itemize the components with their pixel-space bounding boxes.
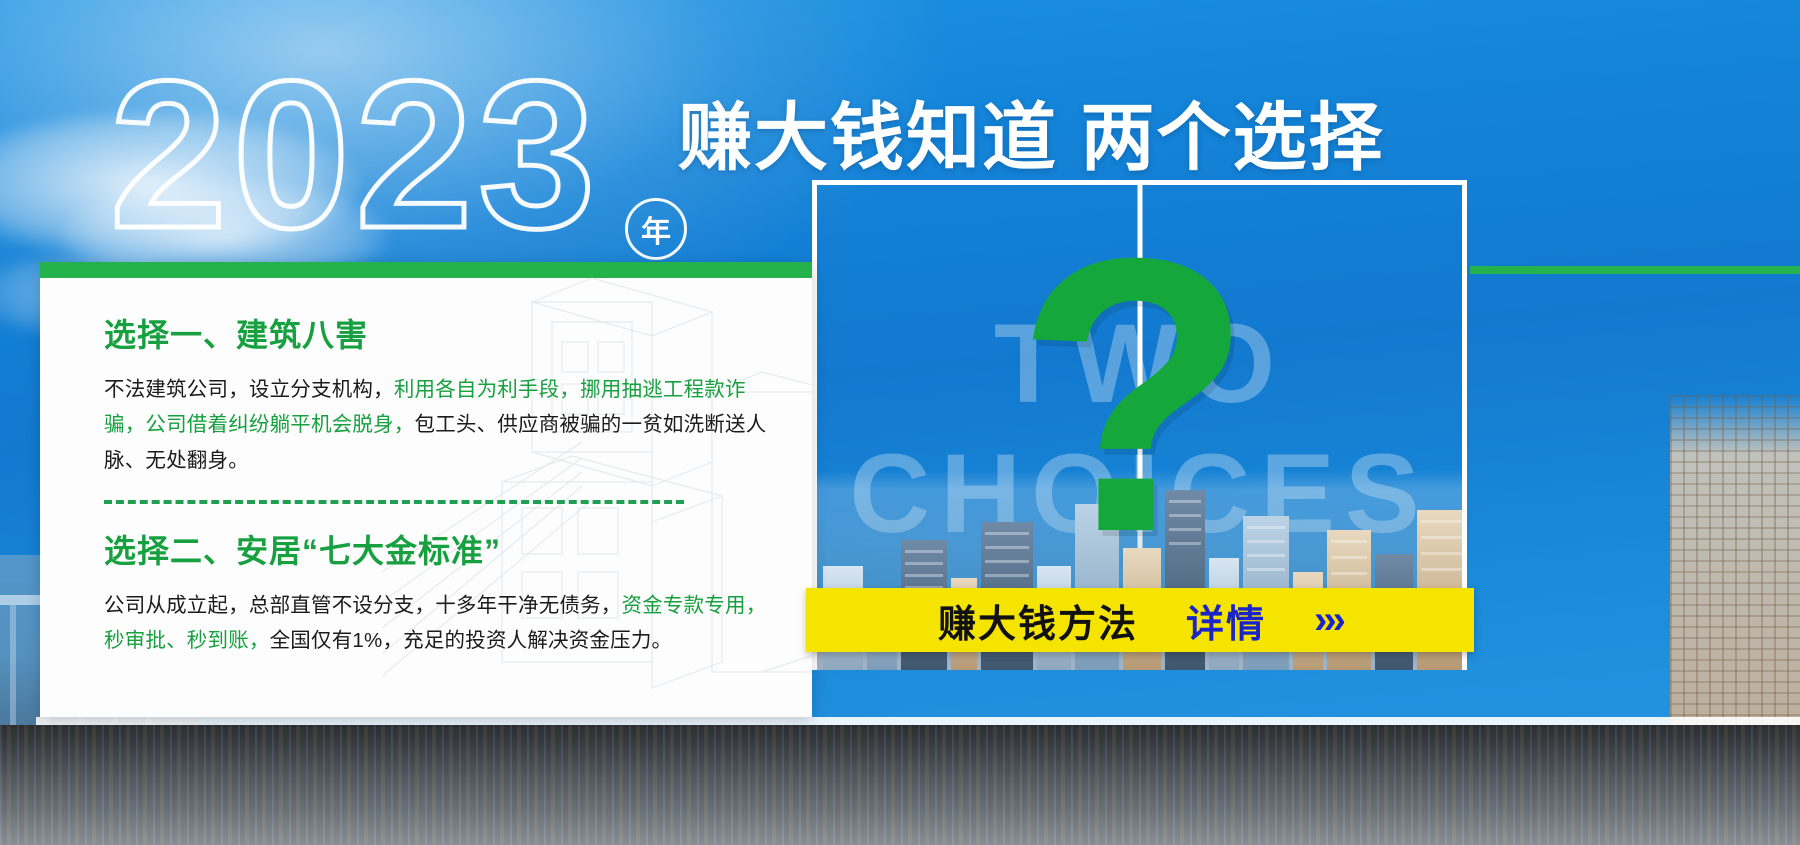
green-accent-line xyxy=(1470,266,1800,274)
section-two-body-part2: 全国仅有1%，充足的投资人解决资金压力。 xyxy=(270,629,673,652)
headline-text: 赚大钱知道 两个选择 xyxy=(678,78,1385,185)
year-suffix-badge: 年 xyxy=(625,198,687,260)
section-two-body: 公司从成立起，总部直管不设分支，十多年干净无债务，资金专款专用，秒审批、秒到账，… xyxy=(104,588,776,659)
section-two: 选择二、安居“七大金标准” 公司从成立起，总部直管不设分支，十多年干净无债务，资… xyxy=(104,526,776,659)
cta-sub-label: 详情 xyxy=(1186,593,1266,648)
section-one-body-part1: 不法建筑公司，设立分支机构， xyxy=(104,378,394,401)
section-two-title: 选择二、安居“七大金标准” xyxy=(104,526,776,572)
right-buildings-photo xyxy=(1670,395,1800,725)
content-card: 选择一、建筑八害 不法建筑公司，设立分支机构，利用各自为利手段，挪用抽逃工程款诈… xyxy=(40,262,812,717)
cta-main-label: 赚大钱方法 xyxy=(938,593,1138,648)
section-divider xyxy=(104,500,684,504)
section-one-title: 选择一、建筑八害 xyxy=(104,310,776,356)
section-one-body: 不法建筑公司，设立分支机构，利用各自为利手段，挪用抽逃工程款诈骗，公司借着纠纷躺… xyxy=(104,372,776,478)
question-mark-icon: ? xyxy=(1015,200,1253,590)
promo-banner: 2023 年 赚大钱知道 两个选择 TWO CHOICES xyxy=(0,0,1800,845)
water-reflection-strip xyxy=(0,725,1800,845)
section-two-body-part1: 公司从成立起，总部直管不设分支，十多年干净无债务， xyxy=(104,594,622,617)
year-numeral: 2023 xyxy=(110,50,601,260)
chevron-right-icon: ››› xyxy=(1314,598,1342,643)
cta-button[interactable]: 赚大钱方法 详情 ››› xyxy=(806,588,1474,652)
